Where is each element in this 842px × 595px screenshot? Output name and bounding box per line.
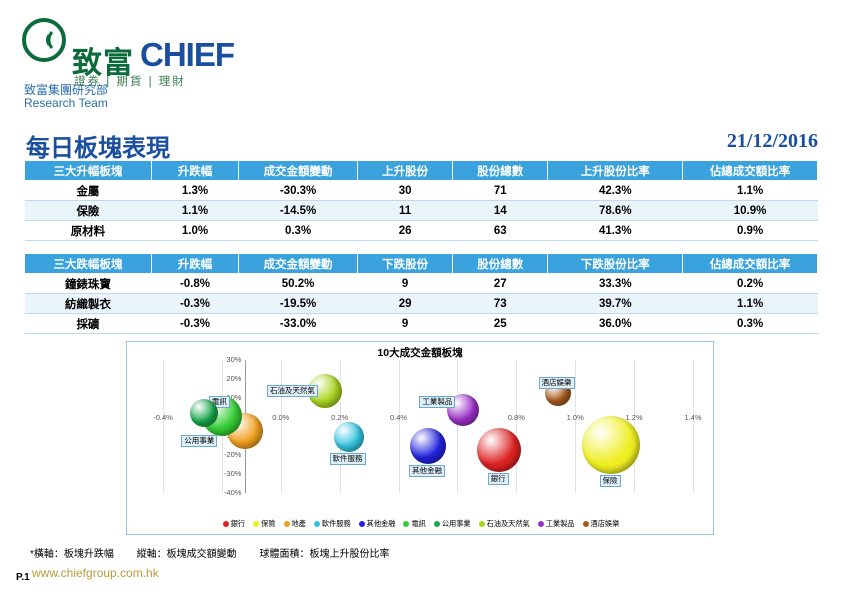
legend-label: 地產	[292, 519, 306, 528]
brand-name-en: CHIEF	[140, 36, 234, 74]
col-header: 三大升幅板塊	[25, 161, 152, 181]
footnote-x: *橫軸：板塊升跌幅	[30, 549, 114, 560]
col-header: 三大跌幅板塊	[25, 254, 152, 274]
col-header: 上升股份	[358, 161, 453, 181]
x-tick-label: 1.4%	[678, 413, 708, 422]
legend-label: 保險	[261, 519, 275, 528]
legend-swatch	[284, 521, 290, 527]
y-tick-label: 20%	[215, 374, 241, 383]
y-tick-label: -20%	[215, 450, 241, 459]
col-header: 股份總數	[453, 254, 548, 274]
col-header: 升跌幅	[151, 161, 238, 181]
legend-label: 酒店娛樂	[591, 519, 620, 528]
gainers-table: 三大升幅板塊 升跌幅 成交金額變動 上升股份 股份總數 上升股份比率 佔總成交額…	[24, 160, 818, 241]
legend-swatch	[583, 521, 589, 527]
col-header: 佔總成交額比率	[683, 161, 818, 181]
turnover-share: 10.9%	[683, 201, 818, 221]
col-header: 股份總數	[453, 161, 548, 181]
sector-name: 金屬	[25, 181, 152, 201]
bubble-label: 工業製品	[419, 396, 455, 408]
y-tick-label: 30%	[215, 355, 241, 364]
x-tick-label: 0.4%	[384, 413, 414, 422]
bubble-label: 保險	[600, 475, 621, 487]
turnover-share: 0.3%	[683, 314, 818, 334]
legend-item: 公用事業	[434, 519, 471, 528]
table-row: 金屬 1.3% -30.3% 30 71 42.3% 1.1%	[25, 181, 818, 201]
legend-item: 地產	[284, 519, 306, 528]
declining-ratio: 39.7%	[548, 294, 683, 314]
legend-label: 軟件服務	[322, 519, 351, 528]
bubble-label: 其他金融	[409, 465, 445, 477]
sector-change: -0.3%	[151, 314, 238, 334]
gridline	[457, 360, 458, 493]
legend-swatch	[403, 521, 409, 527]
legend-swatch	[479, 521, 485, 527]
col-header: 佔總成交額比率	[683, 254, 818, 274]
x-tick-label: 1.0%	[560, 413, 590, 422]
legend-item: 石油及天然氣	[479, 519, 530, 528]
gridline	[575, 360, 576, 493]
table-header-row: 三大跌幅板塊 升跌幅 成交金額變動 下跌股份 股份總數 下跌股份比率 佔總成交額…	[25, 254, 818, 274]
legend-item: 軟件服務	[314, 519, 351, 528]
table-row: 採礦 -0.3% -33.0% 9 25 36.0% 0.3%	[25, 314, 818, 334]
website-url[interactable]: www.chiefgroup.com.hk	[32, 566, 159, 580]
sector-change: 1.1%	[151, 201, 238, 221]
turnover-change: -19.5%	[239, 294, 358, 314]
brand-logo-area: 致富 CHIEF 證券 | 期貨 | 理財	[22, 18, 442, 80]
legend-label: 工業製品	[546, 519, 575, 528]
bubble-label: 銀行	[488, 473, 509, 485]
legend-item: 保險	[253, 519, 275, 528]
legend-label: 其他金融	[367, 519, 396, 528]
turnover-change: -14.5%	[239, 201, 358, 221]
chart-plot-area: 30%20%10%0%-10%-20%-30%-40%-0.4%-0.2%0.0…	[163, 360, 693, 493]
gridline	[693, 360, 694, 493]
y-tick-label: -40%	[215, 488, 241, 497]
total-count: 25	[453, 314, 548, 334]
turnover-share: 1.1%	[683, 181, 818, 201]
footnote: *橫軸：板塊升跌幅 縱軸：板塊成交額變動 球體面積：板塊上升股份比率	[30, 545, 409, 560]
x-tick-label: 0.0%	[266, 413, 296, 422]
col-header: 成交金額變動	[239, 254, 358, 274]
sector-change: 1.0%	[151, 221, 238, 241]
department-name-en: Research Team	[24, 96, 108, 110]
table-row: 保險 1.1% -14.5% 11 14 78.6% 10.9%	[25, 201, 818, 221]
bubble-label: 石油及天然氣	[267, 385, 318, 397]
advancing-ratio: 42.3%	[548, 181, 683, 201]
gridline	[516, 360, 517, 493]
legend-item: 酒店娛樂	[583, 519, 620, 528]
legend-label: 公用事業	[442, 519, 471, 528]
x-tick-label: 0.2%	[325, 413, 355, 422]
legend-item: 電訊	[403, 519, 425, 528]
declining-count: 9	[358, 274, 453, 294]
sector-name: 紡織製衣	[25, 294, 152, 314]
sector-change: -0.3%	[151, 294, 238, 314]
bubble-label: 酒店娛樂	[539, 377, 575, 389]
total-count: 63	[453, 221, 548, 241]
gridline	[634, 360, 635, 493]
footnote-size: 球體面積：板塊上升股份比率	[259, 549, 389, 560]
col-header: 下跌股份比率	[548, 254, 683, 274]
legend-item: 其他金融	[359, 519, 396, 528]
table-row: 鐘錶珠寶 -0.8% 50.2% 9 27 33.3% 0.2%	[25, 274, 818, 294]
advancing-count: 30	[358, 181, 453, 201]
legend-swatch	[359, 521, 365, 527]
page-number: P.1	[16, 572, 30, 583]
bubble-保險	[582, 416, 640, 474]
turnover-change: -33.0%	[239, 314, 358, 334]
gridline	[399, 360, 400, 493]
legend-swatch	[314, 521, 320, 527]
bubble-軟件服務	[334, 422, 364, 452]
sector-name: 保險	[25, 201, 152, 221]
gridline	[163, 360, 164, 493]
bubble-label: 軟件服務	[330, 453, 366, 465]
turnover-change: 0.3%	[239, 221, 358, 241]
declining-count: 29	[358, 294, 453, 314]
bubble-銀行	[477, 428, 521, 472]
report-date: 21/12/2016	[727, 130, 818, 153]
legend-label: 銀行	[231, 519, 245, 528]
col-header: 成交金額變動	[239, 161, 358, 181]
total-count: 27	[453, 274, 548, 294]
chief-logo-icon	[22, 18, 66, 62]
legend-label: 石油及天然氣	[487, 519, 530, 528]
declining-ratio: 33.3%	[548, 274, 683, 294]
legend-swatch	[223, 521, 229, 527]
declining-count: 9	[358, 314, 453, 334]
legend-swatch	[434, 521, 440, 527]
advancing-count: 26	[358, 221, 453, 241]
legend-label: 電訊	[411, 519, 425, 528]
declining-ratio: 36.0%	[548, 314, 683, 334]
legend-swatch	[538, 521, 544, 527]
bubble-chart: 10大成交金額板塊 30%20%10%0%-10%-20%-30%-40%-0.…	[126, 341, 714, 535]
bubble-label: 公用事業	[181, 435, 217, 447]
table-header-row: 三大升幅板塊 升跌幅 成交金額變動 上升股份 股份總數 上升股份比率 佔總成交額…	[25, 161, 818, 181]
sector-name: 採礦	[25, 314, 152, 334]
advancing-ratio: 41.3%	[548, 221, 683, 241]
col-header: 下跌股份	[358, 254, 453, 274]
turnover-change: -30.3%	[239, 181, 358, 201]
gridline	[281, 360, 282, 493]
legend-item: 工業製品	[538, 519, 575, 528]
legend-swatch	[253, 521, 259, 527]
turnover-share: 1.1%	[683, 294, 818, 314]
sector-name: 鐘錶珠寶	[25, 274, 152, 294]
x-tick-label: 0.8%	[501, 413, 531, 422]
sector-name: 原材料	[25, 221, 152, 241]
sector-change: -0.8%	[151, 274, 238, 294]
advancing-count: 11	[358, 201, 453, 221]
legend-item: 銀行	[223, 519, 245, 528]
chart-legend: 銀行保險地產軟件服務其他金融電訊公用事業石油及天然氣工業製品酒店娛樂	[157, 519, 685, 529]
col-header: 升跌幅	[151, 254, 238, 274]
sector-change: 1.3%	[151, 181, 238, 201]
advancing-ratio: 78.6%	[548, 201, 683, 221]
table-row: 原材料 1.0% 0.3% 26 63 41.3% 0.9%	[25, 221, 818, 241]
total-count: 71	[453, 181, 548, 201]
y-tick-label: -30%	[215, 469, 241, 478]
turnover-change: 50.2%	[239, 274, 358, 294]
total-count: 14	[453, 201, 548, 221]
table-row: 紡織製衣 -0.3% -19.5% 29 73 39.7% 1.1%	[25, 294, 818, 314]
bubble-其他金融	[410, 428, 446, 464]
page-title: 每日板塊表現	[26, 128, 170, 163]
x-tick-label: -0.4%	[148, 413, 178, 422]
turnover-share: 0.9%	[683, 221, 818, 241]
losers-table: 三大跌幅板塊 升跌幅 成交金額變動 下跌股份 股份總數 下跌股份比率 佔總成交額…	[24, 253, 818, 334]
turnover-share: 0.2%	[683, 274, 818, 294]
col-header: 上升股份比率	[548, 161, 683, 181]
total-count: 73	[453, 294, 548, 314]
footnote-y: 縱軸：板塊成交額變動	[137, 549, 237, 560]
